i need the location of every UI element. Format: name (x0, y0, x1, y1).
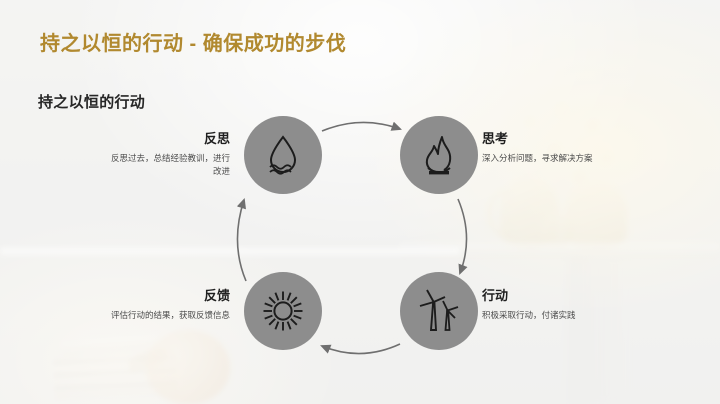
wind-turbine-icon (417, 288, 461, 334)
cycle-label-feedback-title: 反馈 (108, 288, 230, 304)
cycle-label-reflect-title: 反思 (108, 131, 230, 147)
arrow-feedback-to-reflect (237, 200, 246, 281)
arrow-act-to-feedback (322, 344, 400, 354)
cycle-node-reflect[interactable] (244, 116, 322, 194)
water-drop-icon (263, 133, 303, 177)
cycle-arrows (0, 0, 720, 404)
arrow-think-to-act (458, 199, 467, 273)
cycle-diagram: 反思 反思过去，总结经验教训，进行改进 思考 深入分析问题，寻求解决方案 行动 … (0, 0, 720, 404)
cycle-label-reflect-desc: 反思过去，总结经验教训，进行改进 (108, 152, 230, 178)
slide-canvas: 持之以恒的行动 - 确保成功的步伐 持之以恒的行动 (0, 0, 720, 404)
cycle-label-feedback-desc: 评估行动的结果，获取反馈信息 (108, 309, 230, 322)
arrow-reflect-to-think (322, 122, 400, 131)
cycle-label-act: 行动 积极采取行动，付诸实践 (482, 288, 618, 322)
sun-icon (261, 289, 305, 333)
cycle-label-feedback: 反馈 评估行动的结果，获取反馈信息 (108, 288, 230, 322)
flame-icon (418, 132, 460, 178)
cycle-node-think[interactable] (400, 116, 478, 194)
cycle-label-act-title: 行动 (482, 288, 618, 304)
cycle-label-think-desc: 深入分析问题，寻求解决方案 (482, 152, 610, 165)
cycle-node-act[interactable] (400, 272, 478, 350)
cycle-label-think: 思考 深入分析问题，寻求解决方案 (482, 131, 610, 165)
cycle-label-think-title: 思考 (482, 131, 610, 147)
cycle-label-act-desc: 积极采取行动，付诸实践 (482, 309, 618, 322)
cycle-label-reflect: 反思 反思过去，总结经验教训，进行改进 (108, 131, 230, 178)
cycle-node-feedback[interactable] (244, 272, 322, 350)
